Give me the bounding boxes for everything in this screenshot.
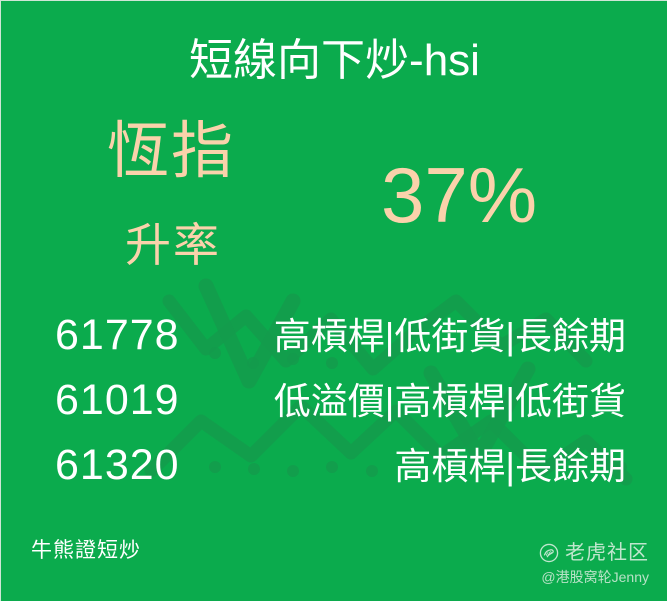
- row-code: 61019: [55, 372, 180, 428]
- row-tags: 高槓桿|長餘期: [180, 439, 626, 495]
- percent-value: 37%: [381, 149, 537, 241]
- brand-name: 老虎社区: [565, 541, 649, 565]
- index-name-label: 恆指: [107, 114, 235, 190]
- brand-watermark: 老虎社区 @港股窝轮Jenny: [539, 541, 649, 587]
- tiger-circle-icon: [539, 543, 559, 563]
- page-title: 短線向下炒-hsi: [1, 35, 667, 87]
- footer-note: 牛熊證短炒: [31, 537, 141, 565]
- row-tags: 高槓桿|低街貨|長餘期: [180, 309, 626, 365]
- brand-row: 老虎社区: [539, 541, 649, 565]
- row-code: 61320: [55, 437, 180, 493]
- warrant-list: 61778 高槓桿|低街貨|長餘期 61019 低溢價|高槓桿|低街貨 6132…: [1, 307, 667, 502]
- poster-root: 短線向下炒-hsi 恆指 37% 升率 61778 高槓桿|低街貨|長餘期 61…: [0, 0, 667, 601]
- row-code: 61778: [55, 307, 180, 363]
- chart-watermark-icon: [1, 1, 667, 601]
- table-row: 61320 高槓桿|長餘期: [1, 437, 667, 502]
- brand-handle: @港股窝轮Jenny: [539, 567, 649, 587]
- rate-label: 升率: [125, 217, 221, 273]
- table-row: 61778 高槓桿|低街貨|長餘期: [1, 307, 667, 372]
- row-tags: 低溢價|高槓桿|低街貨: [180, 374, 626, 430]
- table-row: 61019 低溢價|高槓桿|低街貨: [1, 372, 667, 437]
